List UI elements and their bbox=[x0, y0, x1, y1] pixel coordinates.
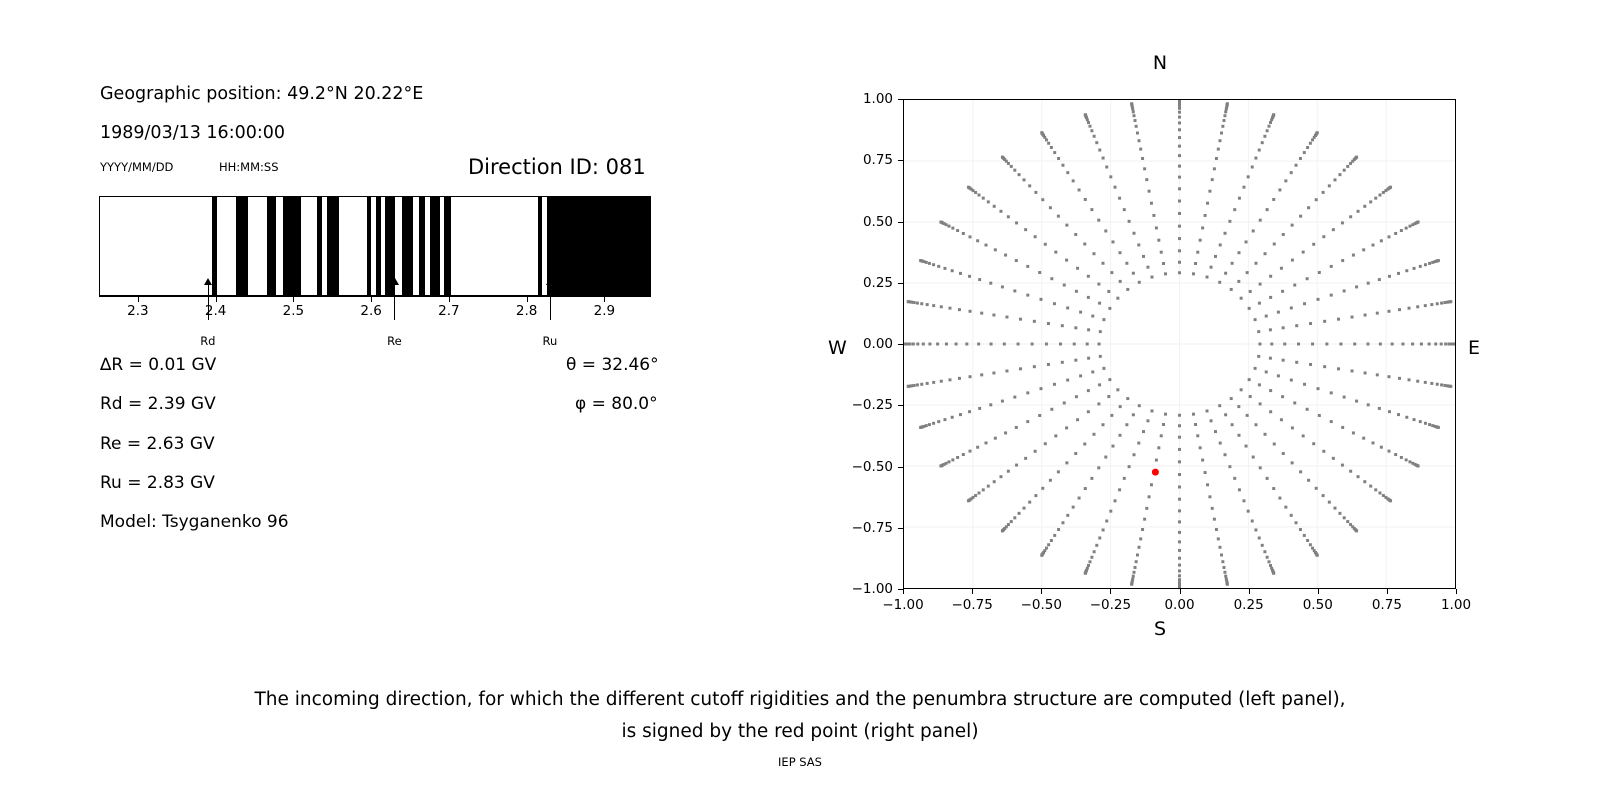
direction-dot bbox=[1364, 371, 1367, 374]
direction-dot bbox=[1083, 443, 1086, 446]
direction-dot bbox=[980, 373, 983, 376]
direction-dot bbox=[1413, 267, 1416, 270]
direction-dot bbox=[1142, 255, 1145, 258]
direction-dot bbox=[1125, 423, 1128, 426]
direction-dot bbox=[958, 377, 961, 380]
direction-dot bbox=[1230, 288, 1233, 291]
direction-dot bbox=[1408, 225, 1411, 228]
direction-dot bbox=[969, 310, 972, 313]
direction-dot bbox=[1102, 367, 1105, 370]
direction-scatter-plot[interactable] bbox=[903, 99, 1456, 589]
direction-dot bbox=[1269, 357, 1272, 360]
direction-dot bbox=[1047, 363, 1050, 366]
direction-dot bbox=[1015, 464, 1018, 467]
direction-dot bbox=[1160, 434, 1163, 437]
direction-dot bbox=[1118, 197, 1121, 200]
direction-dot bbox=[1240, 297, 1243, 300]
direction-dot bbox=[1424, 422, 1427, 425]
direction-dot bbox=[987, 200, 990, 203]
direction-dot bbox=[1387, 310, 1390, 313]
direction-dot bbox=[1417, 465, 1420, 468]
direction-dot bbox=[1136, 132, 1139, 135]
direction-dot bbox=[1116, 388, 1119, 391]
direction-dot bbox=[1440, 302, 1443, 305]
direction-dot bbox=[1078, 497, 1081, 500]
direction-dot bbox=[1132, 110, 1135, 113]
direction-dot bbox=[1178, 485, 1181, 488]
direction-dot bbox=[1098, 536, 1101, 539]
direction-dot bbox=[1311, 343, 1314, 346]
direction-dot bbox=[1266, 129, 1269, 132]
direction-dot bbox=[1019, 318, 1022, 321]
direction-dot bbox=[1061, 521, 1064, 524]
direction-dot bbox=[994, 248, 997, 251]
direction-dot bbox=[1004, 254, 1007, 257]
axis-tick-label: 2.7 bbox=[438, 303, 459, 319]
direction-dot bbox=[1001, 400, 1004, 403]
direction-dot bbox=[1087, 410, 1090, 413]
direction-dot bbox=[1291, 461, 1294, 464]
direction-dot bbox=[1226, 102, 1229, 105]
direction-dot bbox=[1213, 167, 1216, 170]
direction-dot bbox=[1272, 113, 1275, 116]
direction-dot bbox=[1226, 583, 1229, 586]
direction-dot bbox=[1118, 488, 1121, 491]
param-theta: θ = 32.46° bbox=[566, 355, 659, 375]
direction-dot bbox=[1015, 426, 1018, 429]
direction-dot bbox=[1252, 229, 1255, 232]
direction-dot bbox=[1218, 139, 1221, 142]
direction-dot bbox=[1269, 275, 1272, 278]
direction-dot bbox=[1284, 179, 1287, 182]
direction-dot bbox=[1178, 564, 1181, 567]
direction-dot bbox=[1031, 343, 1034, 346]
direction-dot bbox=[1309, 322, 1312, 325]
x-axis-tick bbox=[1387, 589, 1388, 594]
direction-dot bbox=[1254, 157, 1257, 160]
direction-dot bbox=[1440, 383, 1443, 386]
direction-dot bbox=[959, 413, 962, 416]
direction-dot bbox=[948, 225, 951, 228]
direction-dot bbox=[1178, 249, 1181, 252]
direction-dot bbox=[1066, 514, 1069, 517]
direction-dot bbox=[1444, 343, 1447, 346]
direction-dot bbox=[916, 343, 919, 346]
direction-dot bbox=[1087, 389, 1090, 392]
param-rd: Rd = 2.39 GV bbox=[100, 394, 216, 414]
direction-dot bbox=[932, 263, 935, 266]
direction-dot bbox=[1258, 149, 1261, 152]
axis-tick-label: 2.8 bbox=[516, 303, 537, 319]
direction-dot bbox=[1264, 252, 1267, 255]
y-axis-tick-label: −0.25 bbox=[825, 397, 893, 413]
direction-dot bbox=[932, 422, 935, 425]
direction-dot bbox=[1148, 190, 1151, 193]
axis-tick-label: 2.6 bbox=[360, 303, 381, 319]
direction-dot bbox=[1417, 221, 1420, 224]
direction-dot bbox=[1178, 509, 1181, 512]
direction-dot bbox=[1086, 343, 1089, 346]
direction-dot bbox=[1278, 497, 1281, 500]
direction-dot bbox=[922, 343, 925, 346]
figure-caption: The incoming direction, for which the di… bbox=[0, 684, 1600, 748]
direction-dot bbox=[1079, 311, 1082, 314]
direction-dot bbox=[1057, 528, 1060, 531]
direction-dot bbox=[1111, 240, 1114, 243]
axis-line bbox=[99, 296, 651, 297]
direction-dot bbox=[1291, 259, 1294, 262]
direction-dot bbox=[1214, 255, 1217, 258]
direction-dot bbox=[1074, 359, 1077, 362]
direction-dot bbox=[1054, 434, 1057, 437]
direction-dot bbox=[1349, 470, 1352, 473]
direction-dot bbox=[1290, 514, 1293, 517]
direction-dot bbox=[1040, 131, 1043, 134]
direction-dot bbox=[1268, 560, 1271, 563]
direction-dot bbox=[1206, 276, 1209, 279]
direction-dot bbox=[1090, 556, 1093, 559]
direction-dot bbox=[1138, 404, 1141, 407]
direction-dot bbox=[1178, 165, 1181, 168]
direction-dot bbox=[1299, 215, 1302, 218]
direction-dot bbox=[1378, 278, 1381, 281]
datetime-text: 1989/03/13 16:00:00 bbox=[100, 123, 285, 143]
direction-dot bbox=[1039, 298, 1042, 301]
direction-dot bbox=[993, 205, 996, 208]
selected-direction-marker[interactable] bbox=[1152, 469, 1159, 476]
direction-dot bbox=[1317, 298, 1320, 301]
direction-dot bbox=[1394, 232, 1397, 235]
direction-dot bbox=[1380, 239, 1383, 242]
direction-dot bbox=[1092, 433, 1095, 436]
direction-dot bbox=[1155, 226, 1158, 229]
direction-dot bbox=[1246, 271, 1249, 274]
direction-dot bbox=[1206, 202, 1209, 205]
direction-dot bbox=[1076, 267, 1079, 270]
direction-dot bbox=[1061, 324, 1064, 327]
penumbra-band bbox=[236, 197, 248, 295]
direction-dot bbox=[1416, 305, 1419, 308]
direction-dot bbox=[1107, 290, 1110, 293]
penumbra-band bbox=[538, 197, 542, 295]
direction-dot bbox=[1093, 135, 1096, 138]
direction-dot bbox=[1019, 367, 1022, 370]
direction-dot bbox=[1420, 343, 1423, 346]
direction-dot bbox=[1231, 262, 1234, 265]
direction-dot bbox=[985, 244, 988, 247]
direction-dot bbox=[1430, 303, 1433, 306]
direction-dot bbox=[1044, 442, 1047, 445]
direction-dot bbox=[1363, 205, 1366, 208]
direction-dot bbox=[1213, 518, 1216, 521]
direction-dot bbox=[1428, 423, 1431, 426]
direction-dot bbox=[1259, 466, 1262, 469]
direction-dot bbox=[1369, 485, 1372, 488]
direction-dot bbox=[1419, 420, 1422, 423]
direction-dot bbox=[1255, 423, 1258, 426]
direction-dot bbox=[1116, 297, 1119, 300]
direction-dot bbox=[1297, 343, 1300, 346]
direction-dot bbox=[967, 186, 970, 189]
direction-dot bbox=[1102, 423, 1105, 426]
direction-dot bbox=[1108, 378, 1111, 381]
direction-dot bbox=[1178, 531, 1181, 534]
direction-dot bbox=[1155, 459, 1158, 462]
direction-dot bbox=[1145, 507, 1148, 510]
direction-dot bbox=[1093, 550, 1096, 553]
direction-dot bbox=[1133, 571, 1136, 574]
direction-dot bbox=[1178, 136, 1181, 139]
direction-dot bbox=[1282, 452, 1285, 455]
direction-dot bbox=[1178, 473, 1181, 476]
direction-dot bbox=[1378, 194, 1381, 197]
direction-dot bbox=[1178, 200, 1181, 203]
direction-dot bbox=[1105, 166, 1108, 169]
axis-tick-label: 2.9 bbox=[594, 303, 615, 319]
direction-dot bbox=[1178, 540, 1181, 543]
direction-dot bbox=[982, 197, 985, 200]
direction-dot bbox=[928, 343, 931, 346]
direction-dot bbox=[1034, 450, 1037, 453]
direction-dot bbox=[1178, 100, 1181, 101]
param-model: Model: Tsyganenko 96 bbox=[100, 512, 289, 532]
direction-dot bbox=[1098, 343, 1101, 346]
direction-dot bbox=[1206, 409, 1209, 412]
geographic-position-text: Geographic position: 49.2°N 20.22°E bbox=[100, 84, 423, 104]
direction-dot bbox=[1322, 494, 1325, 497]
direction-dot bbox=[1028, 501, 1031, 504]
direction-dot bbox=[1215, 528, 1218, 531]
x-axis-tick-label: −1.00 bbox=[882, 597, 923, 613]
direction-dot bbox=[1150, 483, 1153, 486]
direction-dot bbox=[1024, 457, 1027, 460]
direction-dot bbox=[1224, 272, 1227, 275]
direction-dot bbox=[940, 380, 943, 383]
direction-dot bbox=[1306, 277, 1309, 280]
direction-dot bbox=[1295, 164, 1298, 167]
direction-dot bbox=[1258, 536, 1261, 539]
direction-dot bbox=[1110, 271, 1113, 274]
direction-dot bbox=[1023, 507, 1026, 510]
x-axis-tick bbox=[1318, 589, 1319, 594]
direction-dot bbox=[1114, 186, 1117, 189]
direction-dot bbox=[1306, 146, 1309, 149]
direction-dot bbox=[1194, 262, 1197, 265]
direction-dot bbox=[1248, 307, 1251, 310]
direction-dot bbox=[1357, 210, 1360, 213]
direction-dot bbox=[1105, 520, 1108, 523]
direction-dot bbox=[1338, 512, 1341, 515]
direction-dot bbox=[1220, 132, 1223, 135]
direction-dot bbox=[1378, 407, 1381, 410]
direction-dot bbox=[978, 492, 981, 495]
direction-dot bbox=[1343, 289, 1346, 292]
direction-dot bbox=[1098, 383, 1101, 386]
direction-dot bbox=[1178, 271, 1181, 274]
direction-dot bbox=[1269, 564, 1272, 567]
direction-dot bbox=[1222, 119, 1225, 122]
direction-dot bbox=[916, 383, 919, 386]
direction-dot bbox=[1192, 272, 1195, 275]
y-axis-tick bbox=[898, 222, 903, 223]
direction-dot bbox=[1277, 311, 1280, 314]
direction-dot bbox=[1053, 534, 1056, 537]
direction-dot bbox=[1034, 235, 1037, 238]
direction-dot bbox=[1278, 188, 1281, 191]
direction-dot bbox=[1338, 173, 1341, 176]
caption-line-1: The incoming direction, for which the di… bbox=[0, 684, 1600, 716]
direction-dot bbox=[1087, 296, 1090, 299]
direction-dot bbox=[1074, 452, 1077, 455]
direction-dot bbox=[978, 194, 981, 197]
direction-dot bbox=[1090, 477, 1093, 480]
direction-dot bbox=[1346, 520, 1349, 523]
direction-dot bbox=[1102, 157, 1105, 160]
direction-dot bbox=[1219, 442, 1222, 445]
direction-dot bbox=[980, 312, 983, 315]
direction-dot bbox=[1295, 361, 1298, 364]
direction-dot bbox=[1160, 251, 1163, 254]
direction-dot bbox=[1223, 114, 1226, 117]
x-axis-tick-label: −0.25 bbox=[1090, 597, 1131, 613]
direction-dot bbox=[1034, 191, 1037, 194]
direction-dot bbox=[1150, 202, 1153, 205]
direction-dot bbox=[1013, 516, 1016, 519]
direction-dot bbox=[1351, 316, 1354, 319]
direction-dot bbox=[1290, 171, 1293, 174]
direction-dot bbox=[1178, 436, 1181, 439]
direction-dot bbox=[1306, 408, 1309, 411]
direction-dot bbox=[1242, 499, 1245, 502]
direction-dot bbox=[1428, 343, 1431, 346]
direction-dot bbox=[1114, 499, 1117, 502]
direction-dot bbox=[1397, 272, 1400, 275]
direction-dot bbox=[1178, 414, 1181, 417]
page-root: Geographic position: 49.2°N 20.22°E 1989… bbox=[0, 0, 1600, 800]
compass-label-south: S bbox=[1154, 618, 1166, 640]
direction-dot bbox=[1023, 178, 1026, 181]
direction-dot bbox=[1343, 516, 1346, 519]
direction-dot bbox=[1254, 528, 1257, 531]
direction-dot bbox=[1237, 280, 1240, 283]
direction-dot bbox=[1162, 423, 1165, 426]
y-axis-tick bbox=[898, 405, 903, 406]
direction-dot bbox=[1054, 251, 1057, 254]
direction-dot bbox=[1269, 410, 1272, 413]
direction-dot bbox=[1111, 445, 1114, 448]
direction-dot bbox=[920, 302, 923, 305]
direction-dot bbox=[1265, 315, 1268, 318]
param-ru: Ru = 2.83 GV bbox=[100, 473, 215, 493]
x-axis-tick-label: 0.75 bbox=[1372, 597, 1402, 613]
direction-dot bbox=[1145, 178, 1148, 181]
direction-dot bbox=[1352, 431, 1355, 434]
direction-dot bbox=[1091, 370, 1094, 373]
direction-dot bbox=[1057, 215, 1060, 218]
direction-dot bbox=[1204, 214, 1207, 217]
direction-dot bbox=[1072, 179, 1075, 182]
direction-dot bbox=[976, 446, 979, 449]
direction-dot bbox=[969, 375, 972, 378]
direction-dot bbox=[1095, 141, 1098, 144]
direction-dot bbox=[1132, 575, 1135, 578]
direction-dot bbox=[1097, 283, 1100, 286]
direction-dot bbox=[1307, 479, 1310, 482]
direction-dot bbox=[1387, 450, 1390, 453]
direction-dot bbox=[1353, 343, 1356, 346]
x-axis-tick-label: 0.00 bbox=[1164, 597, 1194, 613]
direction-dot bbox=[1269, 296, 1272, 299]
direction-dot bbox=[1107, 395, 1110, 398]
direction-dot bbox=[1401, 343, 1404, 346]
direction-dot bbox=[1130, 583, 1133, 586]
direction-dot bbox=[1272, 487, 1275, 490]
direction-dot bbox=[1076, 418, 1079, 421]
direction-dot bbox=[1405, 269, 1408, 272]
direction-dot bbox=[1104, 229, 1107, 232]
direction-dot bbox=[1281, 290, 1284, 293]
direction-dot bbox=[1084, 113, 1087, 116]
direction-dot bbox=[1109, 175, 1112, 178]
y-axis-tick-label: −0.50 bbox=[825, 459, 893, 475]
direction-dot bbox=[1328, 501, 1331, 504]
y-axis-tick bbox=[898, 467, 903, 468]
direction-dot bbox=[1098, 149, 1101, 152]
direction-dot bbox=[1126, 288, 1129, 291]
direction-dot bbox=[939, 465, 942, 468]
direction-dot bbox=[1087, 275, 1090, 278]
axis-tick bbox=[216, 296, 217, 302]
direction-dot bbox=[1217, 148, 1220, 151]
direction-dot bbox=[1379, 343, 1382, 346]
direction-dot bbox=[1047, 142, 1050, 145]
direction-dot bbox=[1178, 261, 1181, 264]
direction-dot bbox=[1258, 383, 1261, 386]
direction-dot bbox=[1211, 507, 1214, 510]
direction-dot bbox=[1157, 446, 1160, 449]
direction-dot bbox=[1394, 453, 1397, 456]
direction-dot bbox=[1045, 547, 1048, 550]
direction-dot bbox=[1130, 102, 1133, 105]
arrow-head-icon bbox=[546, 278, 554, 285]
direction-dot bbox=[1242, 186, 1245, 189]
y-axis-tick-label: 0.75 bbox=[825, 152, 893, 168]
direction-dot bbox=[976, 239, 979, 242]
direction-dot bbox=[1299, 528, 1302, 531]
direction-dot bbox=[1248, 378, 1251, 381]
direction-dot bbox=[1317, 387, 1320, 390]
direction-dot bbox=[956, 456, 959, 459]
direction-dot bbox=[1349, 215, 1352, 218]
direction-dot bbox=[943, 267, 946, 270]
direction-dot bbox=[1196, 434, 1199, 437]
direction-dot bbox=[1133, 114, 1136, 117]
direction-dot bbox=[1238, 488, 1241, 491]
direction-dot bbox=[1293, 401, 1296, 404]
x-axis-tick bbox=[1041, 589, 1042, 594]
direction-dot bbox=[1123, 208, 1126, 211]
direction-dot bbox=[1291, 426, 1294, 429]
direction-dot bbox=[1362, 437, 1365, 440]
direction-dot bbox=[1251, 520, 1254, 523]
direction-dot bbox=[1090, 208, 1093, 211]
direction-dot bbox=[1061, 164, 1064, 167]
rigidity-marker-arrow-rd bbox=[208, 284, 209, 320]
rigidity-marker-label-rd: Rd bbox=[200, 334, 215, 348]
direction-dot bbox=[1309, 363, 1312, 366]
x-axis-tick-label: −0.50 bbox=[1021, 597, 1062, 613]
rigidity-marker-label-re: Re bbox=[387, 334, 402, 348]
